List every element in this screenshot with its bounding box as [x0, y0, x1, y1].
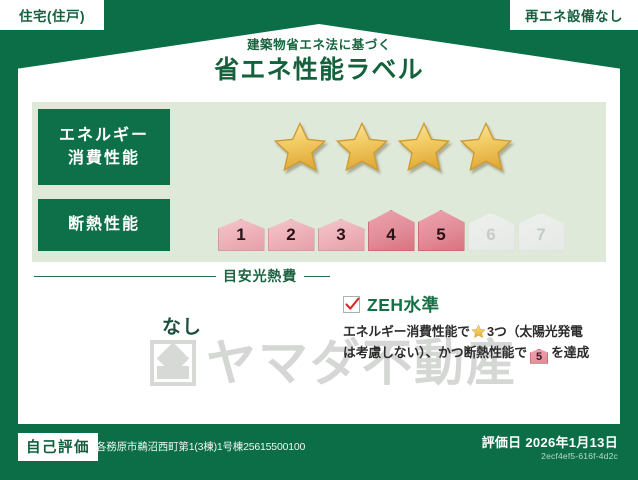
star-icon: [459, 120, 513, 174]
zeh-desc-grade-chip: 5: [530, 349, 548, 364]
insulation-chip-4: 4: [368, 210, 415, 251]
star-rating: [170, 120, 606, 174]
energy-performance-row: エネルギー 消費性能: [32, 108, 606, 186]
insulation-chip-6: 6: [468, 213, 515, 251]
insulation-chip-1: 1: [218, 219, 265, 251]
star-icon: [471, 324, 486, 339]
utility-cost-value: なし: [34, 312, 330, 339]
energy-performance-label: エネルギー 消費性能: [38, 109, 170, 185]
insulation-label-text: 断熱性能: [68, 215, 140, 236]
utility-cost-heading: 目安光熱費: [34, 266, 330, 286]
label-title: 建築物省エネ法に基づく 省エネ性能ラベル: [0, 38, 638, 86]
insulation-grade-scale: 1234567: [170, 199, 606, 251]
zeh-desc-line2-b: を達成: [551, 345, 589, 360]
property-address: 各務原市鵜沼西町第1(3棟)1号棟25615500100: [96, 439, 305, 454]
zeh-description: エネルギー消費性能で3つ（太陽光発電 は考慮しない）、かつ断熱性能で5を達成: [343, 322, 609, 364]
star-icon: [397, 120, 451, 174]
insulation-chip-5: 5: [418, 210, 465, 251]
utility-cost-heading-text: 目安光熱費: [223, 266, 297, 286]
zeh-title: ZEH水準: [367, 292, 440, 317]
zeh-checkbox[interactable]: [343, 296, 360, 313]
badge-building-type: 住宅(住戸): [0, 0, 104, 30]
insulation-performance-row: 断熱性能 1234567: [32, 194, 606, 256]
heading-rule-left: [34, 276, 216, 277]
zeh-desc-line1-a: エネルギー消費性能で: [343, 324, 470, 339]
star-icon: [335, 120, 389, 174]
insulation-chip-3: 3: [318, 219, 365, 251]
performance-panel: エネルギー 消費性能 断熱性能 1234567: [32, 102, 606, 262]
zeh-title-row: ZEH水準: [343, 292, 609, 317]
star-icon: [273, 120, 327, 174]
energy-label-line2: 消費性能: [68, 147, 140, 170]
title-subtitle: 建築物省エネ法に基づく: [0, 38, 638, 53]
check-icon: [345, 297, 360, 312]
badge-renewable-energy: 再エネ設備なし: [510, 0, 638, 30]
title-main: 省エネ性能ラベル: [0, 55, 638, 86]
energy-performance-label: 住宅(住戸) 再エネ設備なし 建築物省エネ法に基づく 省エネ性能ラベル エネルギ…: [0, 0, 638, 480]
zeh-desc-line2-a: は考慮しない）、かつ断熱性能で: [343, 345, 527, 360]
label-footer: 自己評価 各務原市鵜沼西町第1(3棟)1号棟25615500100 評価日 20…: [0, 424, 638, 480]
heading-rule-right: [304, 276, 330, 277]
insulation-chip-7: 7: [518, 213, 565, 251]
zeh-desc-line1-b: 3つ（太陽光発電: [487, 324, 583, 339]
insulation-chip-2: 2: [268, 219, 315, 251]
evaluation-date: 評価日 2026年1月13日: [482, 432, 618, 451]
energy-label-line1: エネルギー: [59, 124, 149, 147]
zeh-standard-block: ZEH水準 エネルギー消費性能で3つ（太陽光発電 は考慮しない）、かつ断熱性能で…: [343, 292, 609, 364]
evaluation-hash: 2ecf4ef5-616f-4d2c: [541, 451, 618, 461]
insulation-performance-label: 断熱性能: [38, 199, 170, 251]
self-evaluation-badge: 自己評価: [18, 433, 98, 461]
